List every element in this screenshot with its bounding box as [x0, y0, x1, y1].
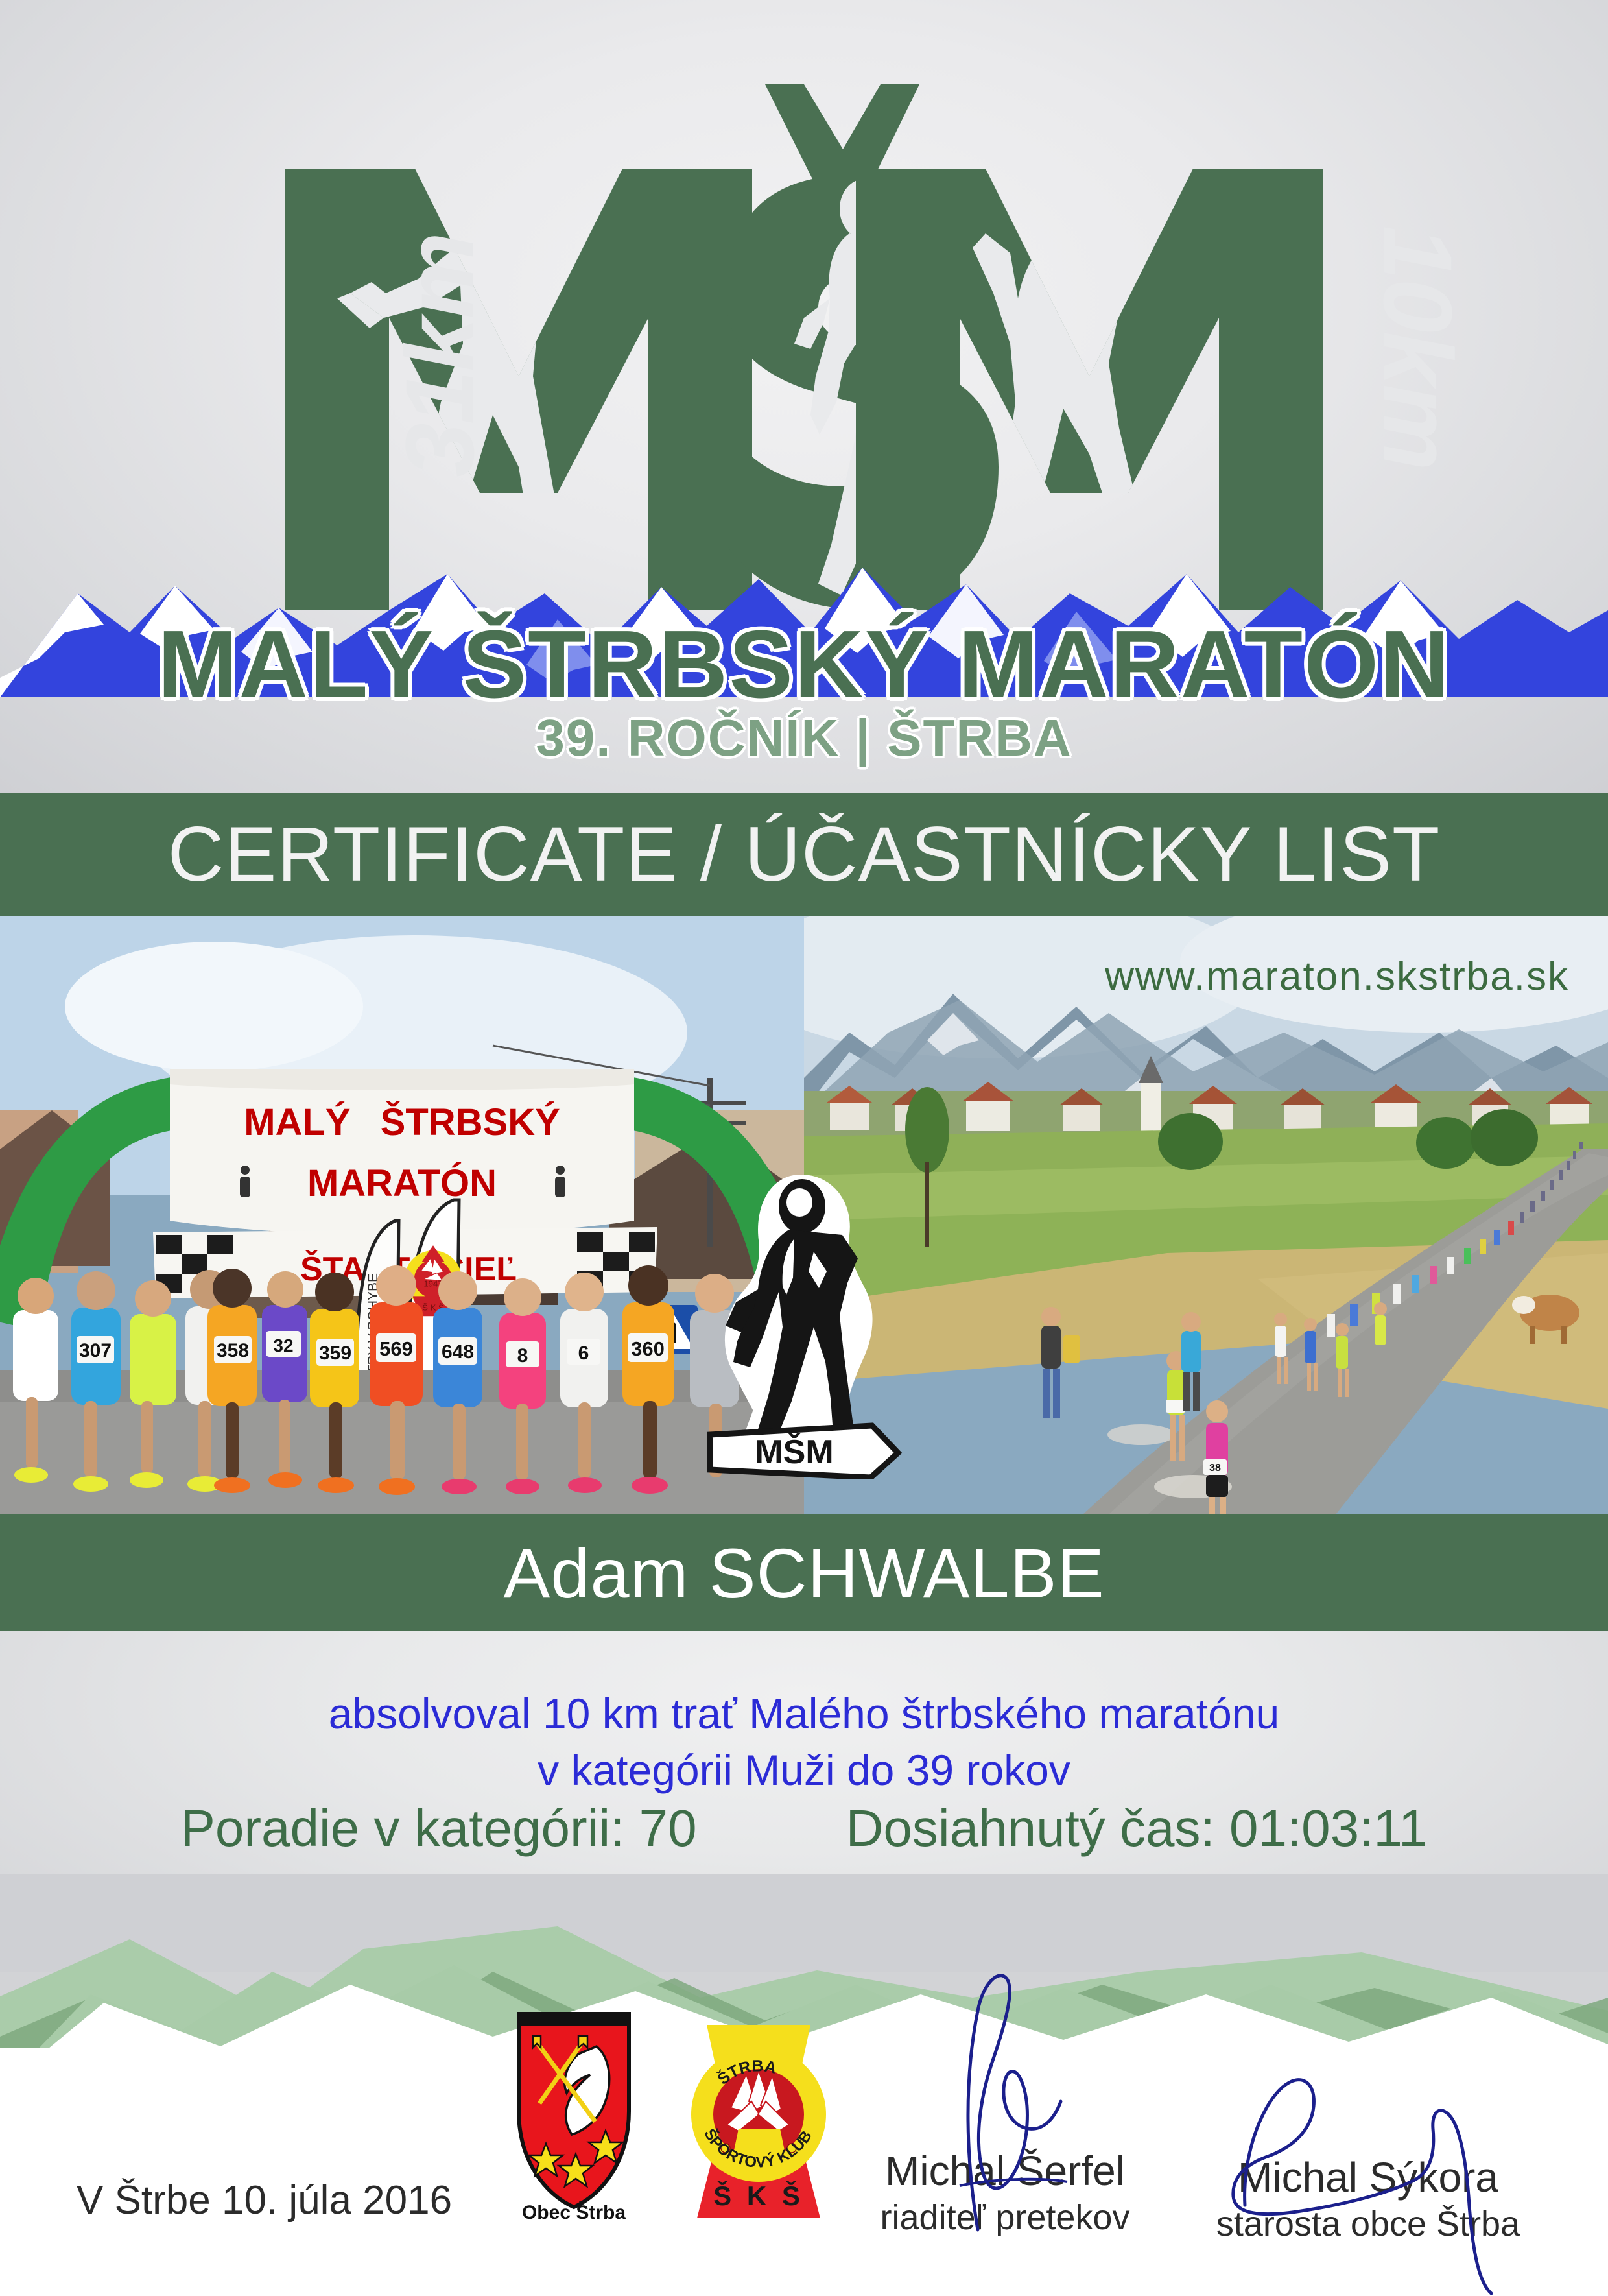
- score-row: Poradie v kategórii: 70 Dosiahnutý čas: …: [0, 1799, 1608, 1858]
- achievement-line-1: absolvoval 10 km trať Malého štrbského m…: [0, 1687, 1608, 1741]
- obec-strba-crest-icon: Obec Štrba: [499, 2007, 648, 2221]
- svg-text:359: 359: [319, 1343, 351, 1364]
- svg-text:307: 307: [79, 1340, 112, 1361]
- signatory-2-name: Michal Sýkora: [1187, 2153, 1550, 2201]
- obec-crest-label: Obec Štrba: [522, 2201, 626, 2221]
- signatory-2-role: starosta obce Štrba: [1187, 2204, 1550, 2244]
- category-rank: Poradie v kategórii: 70: [181, 1799, 697, 1858]
- photo-countryside-run: 38 www.maraton.skstrba.sk: [804, 916, 1608, 1514]
- svg-text:6: 6: [578, 1343, 589, 1364]
- certificate-title-banner: CERTIFICATE / ÚČASTNÍCKY LIST: [0, 793, 1608, 916]
- logo-letter-m-left: [285, 169, 752, 610]
- svg-text:360: 360: [631, 1337, 665, 1360]
- logo-letter-m-right: [856, 169, 1323, 610]
- finish-time: Dosiahnutý čas: 01:03:11: [846, 1799, 1428, 1858]
- distance-left-label: 31km: [384, 233, 496, 477]
- signatory-2: Michal Sýkora starosta obce Štrba: [1187, 2153, 1550, 2244]
- svg-text:358: 358: [217, 1340, 249, 1361]
- svg-text:569: 569: [379, 1337, 413, 1360]
- sks-club-logo-icon: 1947 ŠTRBA ŠPORTOVÝ KLUB Š K Š: [684, 2011, 833, 2225]
- svg-text:MALÝ ŠTRBSKÝ: MALÝ ŠTRBSKÝ: [244, 1101, 560, 1143]
- svg-text:648: 648: [442, 1341, 474, 1363]
- participant-name: Adam SCHWALBE: [503, 1533, 1104, 1614]
- website-url[interactable]: www.maraton.skstrba.sk: [1105, 953, 1569, 999]
- signatory-1-name: Michal Šerfel: [836, 2147, 1174, 2195]
- svg-text:MARATÓN: MARATÓN: [307, 1162, 497, 1204]
- achievement-line-2: v kategórii Muži do 39 rokov: [0, 1743, 1608, 1797]
- signatory-1-role: riaditeľ pretekov: [836, 2197, 1174, 2238]
- certificate-page: 31km 10km MALÝ ŠTRBSKÝ MARATÓN 39: [0, 0, 1608, 2275]
- logo-header-area: 31km 10km MALÝ ŠTRBSKÝ MARATÓN 39: [0, 0, 1608, 793]
- distance-right-label: 10km: [1362, 226, 1474, 470]
- svg-text:32: 32: [273, 1335, 293, 1356]
- svg-text:8: 8: [517, 1345, 528, 1367]
- msm-wordmark-group: 31km 10km: [156, 39, 1452, 610]
- date-place: V Štrbe 10. júla 2016: [77, 2177, 452, 2223]
- msm-logo-svg: [156, 39, 1452, 610]
- msm-runner-badge-icon: MŠM: [703, 1167, 917, 1479]
- badge-msm-text: MŠM: [755, 1433, 833, 1471]
- certificate-title-text: CERTIFICATE / ÚČASTNÍCKY LIST: [168, 809, 1441, 899]
- event-subtitle: 39. ROČNÍK | ŠTRBA: [0, 708, 1608, 768]
- svg-text:38: 38: [1209, 1463, 1221, 1474]
- photo-start-line: MALÝ ŠTRBSKÝ MARATÓN ŠTA: [0, 916, 804, 1514]
- participant-name-banner: Adam SCHWALBE: [0, 1514, 1608, 1631]
- event-title: MALÝ ŠTRBSKÝ MARATÓN: [0, 610, 1608, 720]
- sks-bottom-text: Š K Š: [713, 2180, 804, 2211]
- signatory-1: Michal Šerfel riaditeľ pretekov: [836, 2147, 1174, 2238]
